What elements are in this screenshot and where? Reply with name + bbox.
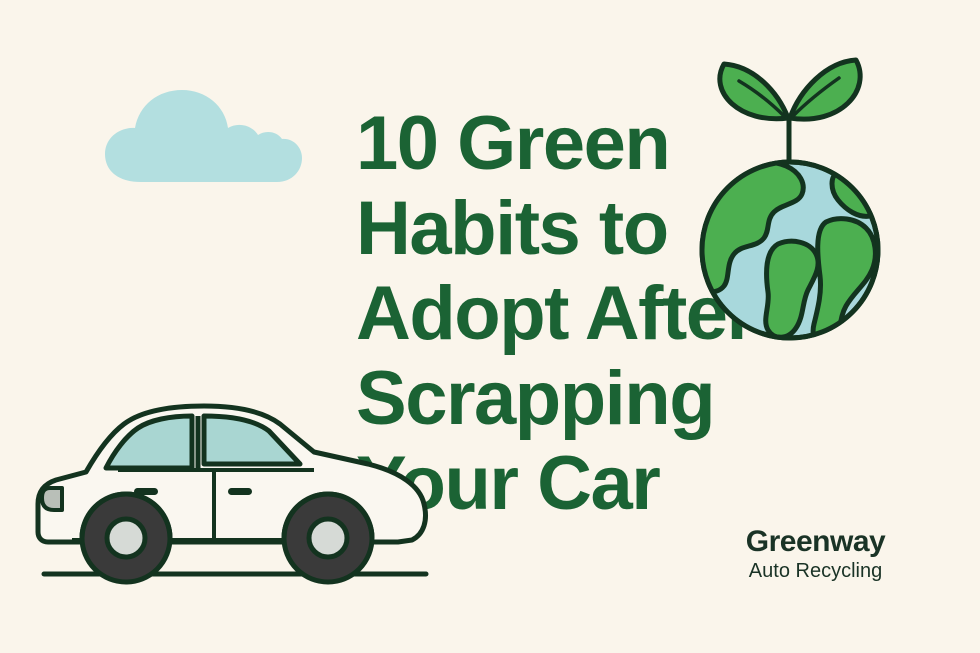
banner-canvas: 10 Green Habits to Adopt After Scrapping… [0, 0, 980, 653]
sedan-car-icon [28, 392, 438, 587]
car-headlight [42, 488, 62, 510]
car-illustration [28, 392, 438, 587]
car-hubcap-front [107, 519, 145, 557]
brand-logo[interactable]: Greenway Auto Recycling [728, 525, 903, 583]
earth-globe-illustration [686, 52, 896, 342]
cloud-icon [95, 82, 310, 192]
globe-sprout-icon [686, 52, 896, 342]
car-hubcap-rear [309, 519, 347, 557]
brand-name: Greenway [728, 525, 903, 559]
brand-tagline: Auto Recycling [728, 559, 903, 583]
car-door-handle-rear [228, 488, 252, 495]
continent-africa [813, 219, 875, 342]
cloud-illustration [95, 82, 310, 192]
cloud-shape [105, 90, 302, 182]
